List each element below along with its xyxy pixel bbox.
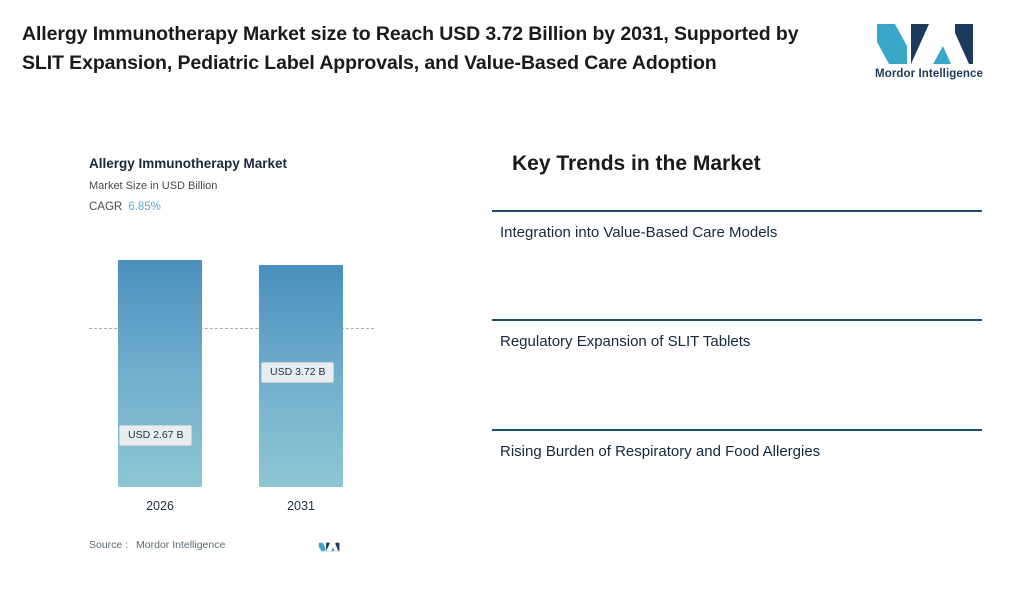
- brand-logo: Mordor Intelligence: [873, 22, 985, 88]
- mordor-m-logo-small-icon: [318, 539, 342, 555]
- trend-label: Rising Burden of Respiratory and Food Al…: [500, 443, 982, 460]
- bar-chart-plot: USD 2.67 B USD 3.72 B 2026 2031: [0, 122, 470, 591]
- trend-divider: [492, 210, 982, 212]
- bar-value-label-2031: USD 3.72 B: [261, 362, 334, 383]
- chart-source: Source : Mordor Intelligence: [89, 539, 225, 551]
- trend-label: Regulatory Expansion of SLIT Tablets: [500, 333, 982, 350]
- brand-logo-text: Mordor Intelligence: [873, 68, 985, 80]
- bar-2026: [118, 260, 202, 487]
- page-header: Allergy Immunotherapy Market size to Rea…: [0, 0, 1023, 122]
- trend-item-0: Integration into Value-Based Care Models: [492, 210, 982, 241]
- key-trends-panel: Key Trends in the Market Integration int…: [492, 122, 1012, 591]
- chart-panel: Allergy Immunotherapy Market Market Size…: [0, 122, 470, 591]
- trend-label: Integration into Value-Based Care Models: [500, 224, 982, 241]
- trend-item-1: Regulatory Expansion of SLIT Tablets: [492, 319, 982, 350]
- mordor-m-logo-icon: [873, 22, 985, 66]
- trend-divider: [492, 319, 982, 321]
- source-label: Source :: [89, 539, 128, 551]
- trend-divider: [492, 429, 982, 431]
- bar-value-label-2026: USD 2.67 B: [119, 425, 192, 446]
- trend-item-2: Rising Burden of Respiratory and Food Al…: [492, 429, 982, 460]
- page-title: Allergy Immunotherapy Market size to Rea…: [22, 20, 822, 78]
- key-trends-title: Key Trends in the Market: [512, 152, 761, 176]
- x-axis-tick-2031: 2031: [259, 499, 343, 513]
- source-name: Mordor Intelligence: [136, 539, 225, 551]
- x-axis-tick-2026: 2026: [118, 499, 202, 513]
